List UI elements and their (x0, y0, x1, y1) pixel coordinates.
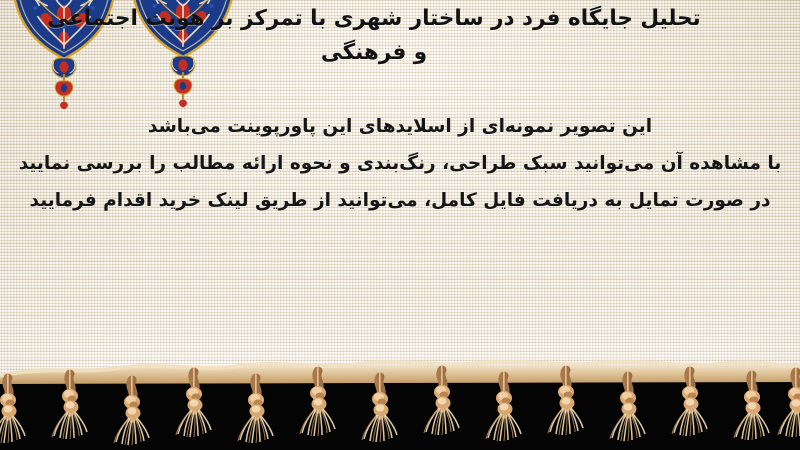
slide-body: این تصویر نمونه‌ای از اسلایدهای این پاور… (0, 108, 800, 219)
body-line-3: در صورت تمایل به دریافت فایل کامل، می‌تو… (0, 182, 800, 219)
slide-canvas: تحلیل جایگاه فرد در ساختار شهری با تمرکز… (0, 0, 800, 450)
body-line-1: این تصویر نمونه‌ای از اسلایدهای این پاور… (0, 108, 800, 145)
carpet-fringe (0, 352, 800, 450)
body-line-2: با مشاهده آن می‌توانید سبک طراحی، رنگ‌بن… (0, 145, 800, 182)
title-line-2: و فرهنگی (2, 36, 792, 70)
title-line-1: تحلیل جایگاه فرد در ساختار شهری با تمرکز… (2, 2, 792, 36)
slide-title: تحلیل جایگاه فرد در ساختار شهری با تمرکز… (2, 2, 792, 70)
